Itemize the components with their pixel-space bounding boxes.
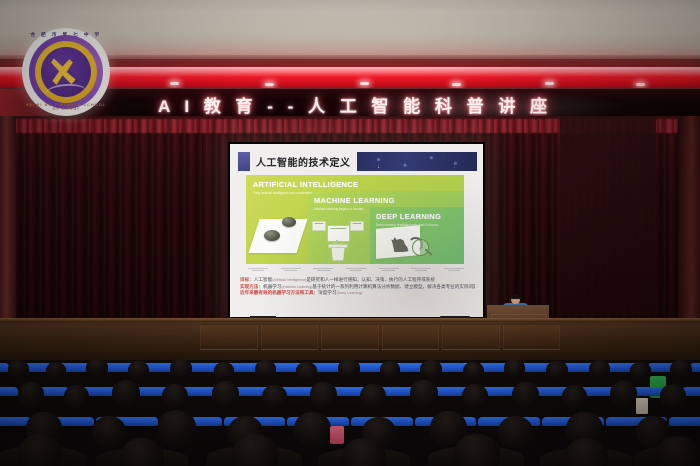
audience-head xyxy=(338,360,360,377)
handout-paper xyxy=(636,398,648,414)
wall-panel-right xyxy=(560,116,656,316)
envelope-icon xyxy=(312,221,326,231)
audience-head xyxy=(498,416,533,448)
audience-head xyxy=(310,382,337,407)
title-accent-block xyxy=(238,152,250,171)
magnifier-icon xyxy=(412,239,429,256)
audience-head xyxy=(670,360,692,378)
timeline-caption xyxy=(411,267,431,271)
go-stone-icon xyxy=(264,230,280,241)
audience-head xyxy=(410,380,438,406)
ml-subtitle: Machine learning begins to flourish. xyxy=(314,207,395,211)
audience-head xyxy=(610,381,637,406)
audience-head xyxy=(296,362,317,379)
ai-ml-dl-nested-diagram: ARTIFICIAL INTELLIGENCE Early artificial… xyxy=(246,175,464,264)
slide-surface: 人工智能的技术定义 ARTIFICIAL INTELLIGENCE Early … xyxy=(230,144,483,317)
slide-body-line: 近年来最有效的机器学习方法和工具：深度学习(Deep Learning) xyxy=(240,290,475,297)
seat xyxy=(691,368,700,384)
body-tail: 基于统计的一系列利用计算机算法分析数据、建立模型，解决各类专业的实际问题，比如：… xyxy=(312,284,475,289)
timeline-caption xyxy=(313,267,333,271)
timeline-caption xyxy=(248,267,268,271)
label-machine-learning: MACHINE LEARNING Machine learning begins… xyxy=(314,197,395,211)
audience-head xyxy=(232,434,278,466)
left-pillar xyxy=(0,116,16,351)
dl-title: DEEP LEARNING xyxy=(376,213,441,221)
audience-head xyxy=(170,360,192,377)
banner-title-text: A I 教 育 - - 人 工 智 能 科 普 讲 座 xyxy=(110,89,600,119)
timeline-caption xyxy=(444,267,464,271)
slide-title: 人工智能的技术定义 xyxy=(250,152,357,171)
audience-head xyxy=(512,382,539,407)
slide-header-graphic xyxy=(357,152,478,171)
audience-head xyxy=(656,436,700,466)
audience-head xyxy=(18,434,62,466)
audience-head xyxy=(8,360,29,378)
school-emblem: 合 肥 市 第 七 中 学 HEFEI NO.7 MIDDLE SCHOOL O… xyxy=(22,28,110,116)
audience-head xyxy=(214,362,234,379)
trash-bin-icon xyxy=(330,246,346,261)
audience-head xyxy=(262,385,287,408)
body-label: 近年来最有效的机器学习方法和工具 xyxy=(240,290,314,295)
timeline-caption xyxy=(379,267,399,271)
emblem-bottom-text: HEFEI NO.7 MIDDLE SCHOOL OF ANHUI xyxy=(22,103,110,111)
audience-head xyxy=(504,360,525,377)
body-cn: ：机器学习 xyxy=(258,284,281,289)
audience-head xyxy=(18,382,44,406)
slide-body-text: 目标：人工智能(Artificial Intelligence)是研究和人一样进… xyxy=(240,277,475,297)
body-label: 目标 xyxy=(240,277,249,282)
audience-head xyxy=(546,361,568,379)
audience-head xyxy=(64,385,89,408)
audience-head xyxy=(630,362,651,379)
body-tail: 是研究和人一样进行感知、认知、决策、执行的人工程序或系统 xyxy=(306,277,435,282)
ai-subtitle: Early artificial intelligence stirs exci… xyxy=(253,191,358,195)
timeline-caption xyxy=(346,267,366,271)
auditorium-photo: A I 教 育 - - 人 工 智 能 科 普 讲 座 人工智能的技术定义 AR… xyxy=(0,0,700,466)
audience-head xyxy=(294,412,331,446)
audience-head xyxy=(463,362,484,379)
audience-head xyxy=(360,384,386,408)
email-spam-filter-icon xyxy=(312,215,364,259)
audience-head xyxy=(454,434,500,466)
right-pillar xyxy=(678,116,700,351)
body-label: 实现方法 xyxy=(240,284,258,289)
audience-head xyxy=(46,362,66,379)
go-stone-icon xyxy=(282,217,296,227)
audience-head xyxy=(462,384,488,408)
audience-head xyxy=(420,360,442,378)
presenter-hair xyxy=(510,294,521,299)
envelope-icon xyxy=(327,225,350,242)
label-artificial-intelligence: ARTIFICIAL INTELLIGENCE Early artificial… xyxy=(253,181,358,195)
audience-head xyxy=(92,416,126,448)
audience-head xyxy=(255,360,276,378)
trash-lid-icon xyxy=(328,244,348,248)
slide-title-bar: 人工智能的技术定义 xyxy=(238,152,477,171)
stage-wood-panels xyxy=(200,324,560,350)
projection-screen: 人工智能的技术定义 ARTIFICIAL INTELLIGENCE Early … xyxy=(228,142,485,319)
cat-image-recognition-icon xyxy=(374,225,438,261)
audience-head xyxy=(660,384,686,408)
body-en: (Machine Learning) xyxy=(281,285,312,289)
audience-head xyxy=(128,361,149,379)
ml-title: MACHINE LEARNING xyxy=(314,197,395,205)
audience-head xyxy=(212,381,239,406)
audience-head xyxy=(562,385,587,408)
audience-head xyxy=(380,361,400,378)
body-cn: ：深度学习 xyxy=(314,290,337,295)
body-en: (Deep Learning) xyxy=(337,291,363,295)
timeline-captions xyxy=(248,267,464,274)
audience-head xyxy=(86,360,108,377)
ai-title: ARTIFICIAL INTELLIGENCE xyxy=(253,181,358,189)
student-audience xyxy=(0,360,700,466)
body-cn: ：人工智能 xyxy=(249,277,272,282)
body-en: (Artificial Intelligence) xyxy=(272,278,306,282)
seat xyxy=(0,392,17,414)
audience-head xyxy=(589,360,610,378)
timeline-caption xyxy=(281,267,301,271)
seat-row xyxy=(0,392,700,414)
audience-head xyxy=(158,410,196,445)
audience-head xyxy=(162,384,188,408)
audience-head xyxy=(112,380,140,406)
envelope-icon xyxy=(350,221,364,231)
stage-edge xyxy=(0,318,700,321)
pink-bag xyxy=(330,426,344,444)
